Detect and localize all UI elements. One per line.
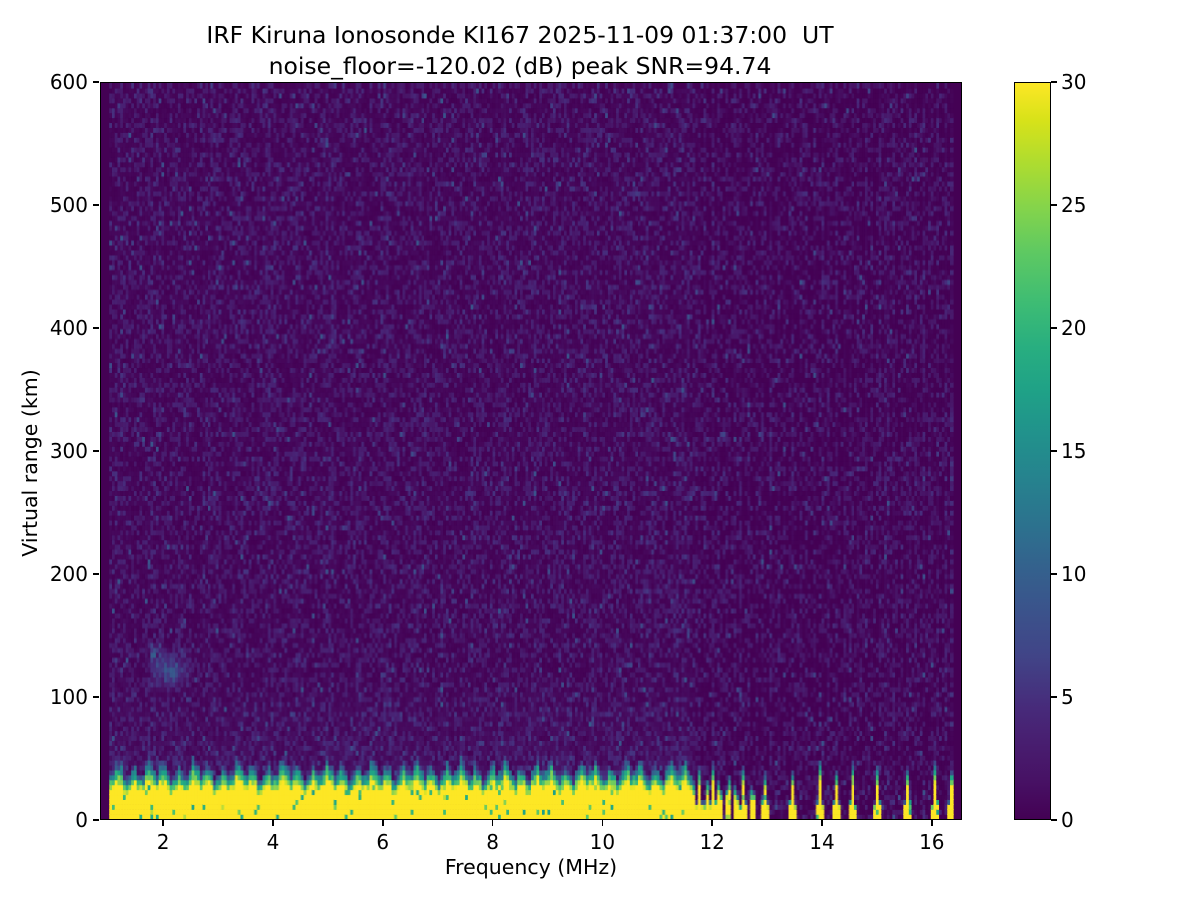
colorbar-tick-mark [1051,450,1057,452]
x-tick-mark [711,820,713,826]
y-tick-mark [93,327,99,329]
y-axis-label: Virtual range (km) [18,313,42,613]
colorbar-tick-mark [1051,204,1057,206]
colorbar-tick-label: 20 [1061,316,1086,340]
ionogram-axes [100,82,962,820]
y-tick-label: 0 [75,808,88,832]
x-tick-mark [382,820,384,826]
colorbar-tick-mark [1051,573,1057,575]
title-line-2: noise_floor=-120.02 (dB) peak SNR=94.74 [0,51,1040,82]
y-tick-label: 300 [50,439,88,463]
x-tick-label: 10 [590,830,615,854]
x-tick-mark [602,820,604,826]
colorbar-tick-mark [1051,81,1057,83]
ionogram-figure: IRF Kiruna Ionosonde KI167 2025-11-09 01… [0,0,1200,900]
x-tick-mark [272,820,274,826]
y-tick-label: 400 [50,316,88,340]
y-tick-label: 100 [50,685,88,709]
y-tick-mark [93,696,99,698]
title-line-1: IRF Kiruna Ionosonde KI167 2025-11-09 01… [0,20,1040,51]
colorbar-tick-mark [1051,696,1057,698]
ionogram-heatmap [101,83,961,819]
x-tick-mark [821,820,823,826]
figure-title: IRF Kiruna Ionosonde KI167 2025-11-09 01… [0,20,1040,81]
colorbar-tick-label: 15 [1061,439,1086,463]
x-axis-label: Frequency (MHz) [100,855,962,879]
x-tick-label: 4 [267,830,280,854]
y-tick-mark [93,819,99,821]
x-tick-label: 12 [699,830,724,854]
x-tick-mark [931,820,933,826]
colorbar-tick-label: 25 [1061,193,1086,217]
y-tick-label: 200 [50,562,88,586]
colorbar-tick-label: 0 [1061,808,1074,832]
colorbar-tick-mark [1051,819,1057,821]
colorbar-tick-mark [1051,327,1057,329]
colorbar-tick-label: 30 [1061,70,1086,94]
x-tick-label: 16 [919,830,944,854]
x-tick-label: 8 [486,830,499,854]
y-tick-label: 600 [50,70,88,94]
x-tick-label: 14 [809,830,834,854]
y-tick-mark [93,573,99,575]
y-tick-mark [93,204,99,206]
colorbar-tick-label: 10 [1061,562,1086,586]
x-tick-mark [162,820,164,826]
x-tick-label: 2 [157,830,170,854]
y-tick-mark [93,81,99,83]
snr-colorbar [1014,82,1051,820]
x-tick-mark [492,820,494,826]
x-tick-label: 6 [376,830,389,854]
colorbar-tick-label: 5 [1061,685,1074,709]
y-tick-mark [93,450,99,452]
y-tick-label: 500 [50,193,88,217]
